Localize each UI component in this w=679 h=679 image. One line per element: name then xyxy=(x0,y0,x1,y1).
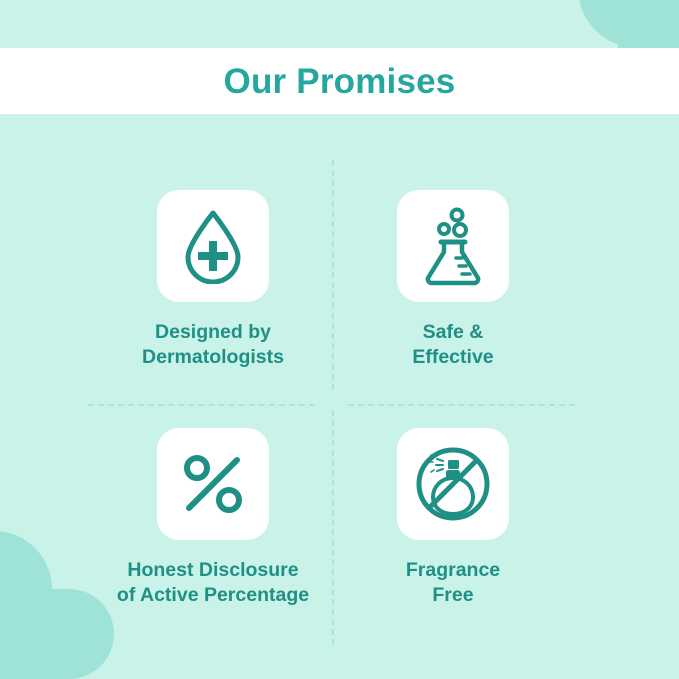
promises-panel: Our Promises Designed by Dermatologists xyxy=(0,0,679,679)
no-fragrance-icon xyxy=(413,444,493,524)
page-title: Our Promises xyxy=(224,64,456,99)
promise-label: Safe & Effective xyxy=(412,320,493,371)
promise-label: Honest Disclosure of Active Percentage xyxy=(117,558,309,609)
promise-grid: Designed by Dermatologists Safe & Effect… xyxy=(0,150,679,650)
icon-card xyxy=(397,428,509,540)
promise-label: Designed by Dermatologists xyxy=(142,320,284,371)
promise-item-fragrance-free: Fragrance Free xyxy=(303,428,603,609)
icon-card xyxy=(397,190,509,302)
icon-card xyxy=(157,190,269,302)
flask-icon xyxy=(417,206,489,286)
promise-item-safe-and-effective: Safe & Effective xyxy=(303,190,603,371)
decoration-top-right-block xyxy=(618,0,679,48)
header-band: Our Promises xyxy=(0,48,679,114)
icon-card xyxy=(157,428,269,540)
promise-label: Fragrance Free xyxy=(406,558,500,609)
percent-icon xyxy=(181,452,245,516)
water-drop-plus-icon xyxy=(177,208,249,284)
